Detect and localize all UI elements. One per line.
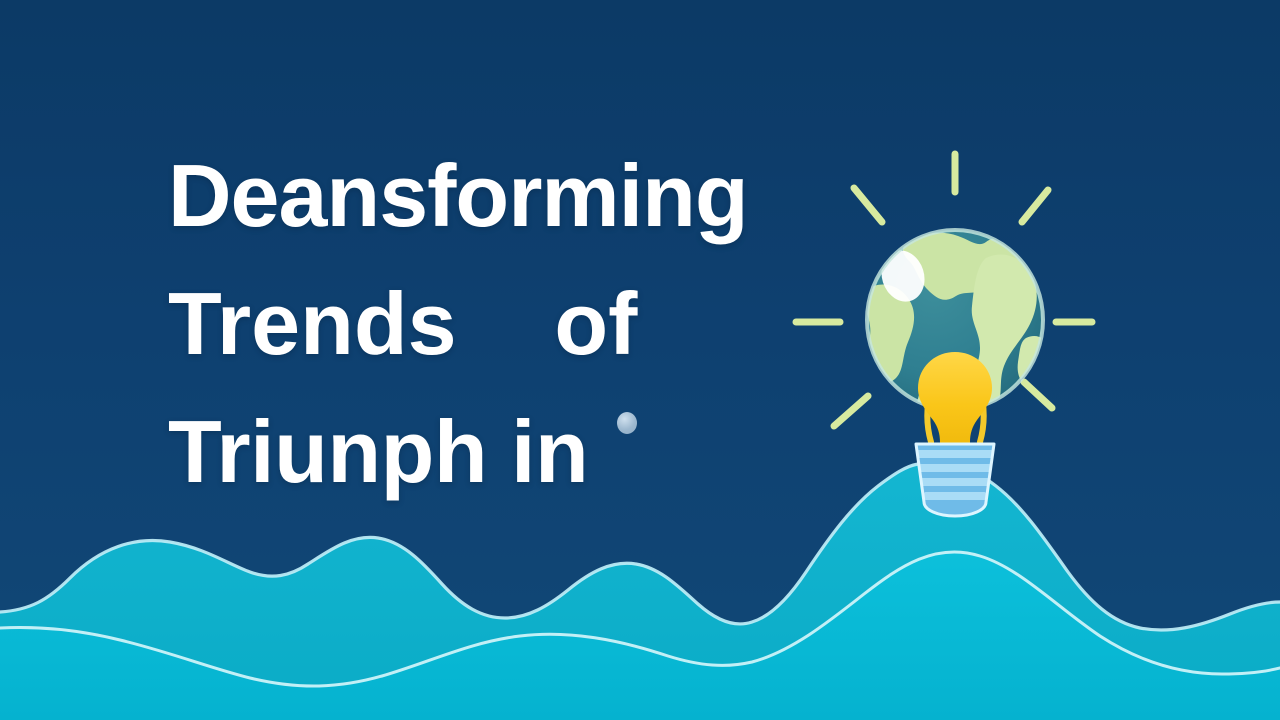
stray-dot-artifact	[617, 412, 637, 434]
bulb-base-icon	[916, 444, 994, 516]
ray-ne	[1022, 190, 1048, 222]
base-stripe-3	[921, 478, 989, 486]
base-stripe-4	[924, 492, 986, 500]
ray-se	[1024, 382, 1052, 408]
base-stripe-1	[917, 450, 993, 458]
ray-nw	[854, 188, 882, 222]
slide-canvas: Deansforming Trends of Triunph in	[0, 0, 1280, 720]
globe-lightbulb-illustration	[790, 130, 1120, 520]
base-stripe-2	[919, 464, 991, 472]
ray-sw	[834, 396, 868, 426]
